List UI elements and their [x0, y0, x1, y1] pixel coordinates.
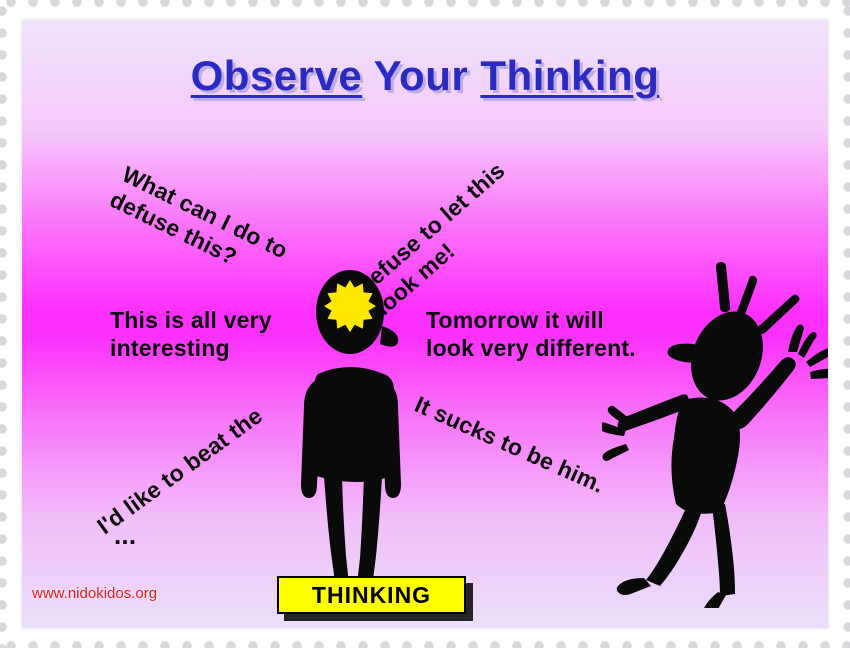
thought-text-ellipsis: ... — [114, 520, 136, 552]
agitated-figure-torso — [671, 398, 740, 514]
thinking-label-text: THINKING — [312, 582, 431, 609]
perforation-left-edge — [0, 0, 16, 648]
agitated-figure-left-foot — [617, 578, 651, 595]
title-word-observe: Observe — [191, 52, 363, 99]
agitated-stick-figure — [602, 248, 828, 608]
motion-line-1 — [716, 262, 730, 312]
agitated-figure-right-leg — [712, 504, 735, 596]
perforation-top-edge — [0, 0, 850, 16]
perforation-right-edge — [834, 0, 850, 648]
agitated-figure-right-foot — [703, 592, 726, 608]
page-title: Observe Your Thinking — [22, 52, 828, 100]
perforation-bottom-edge — [0, 632, 850, 648]
agitated-figure-right-finger-3 — [806, 348, 828, 367]
poster-canvas: Observe Your Thinking What can I do to d… — [22, 20, 828, 628]
calm-stick-figure — [258, 270, 448, 600]
agitated-figure-left-finger-3 — [602, 444, 629, 461]
thinking-label-box[interactable]: THINKING — [277, 576, 466, 614]
calm-figure-ear — [380, 326, 398, 347]
title-word-thinking: Thinking — [480, 52, 659, 99]
calm-figure-right-leg — [356, 476, 382, 592]
agitated-figure-right-finger-4 — [810, 369, 828, 379]
watermark-url: www.nidokidos.org — [32, 585, 157, 602]
motion-line-3 — [758, 295, 800, 335]
title-word-your: Your — [374, 52, 469, 99]
poster: Observe Your Thinking What can I do to d… — [0, 0, 850, 648]
agitated-figure-left-leg — [646, 504, 702, 586]
